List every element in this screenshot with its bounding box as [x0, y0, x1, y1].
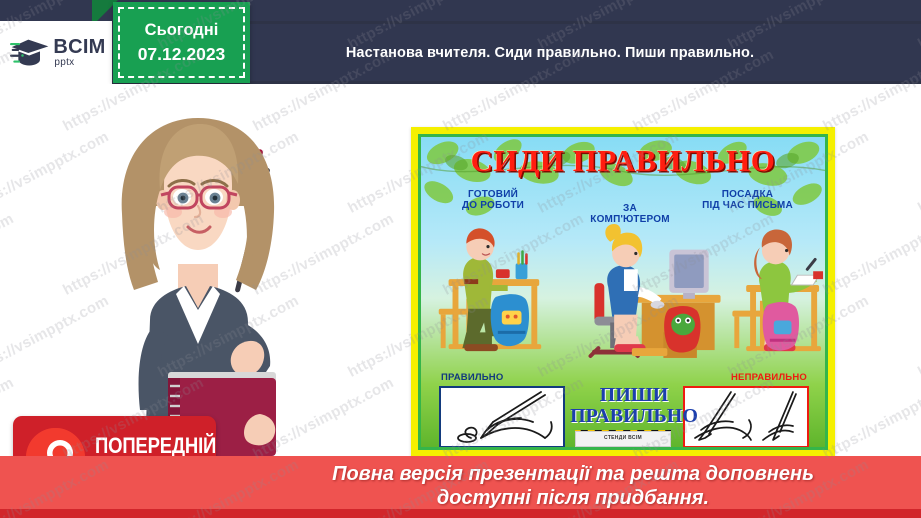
seating-posture-figures	[421, 213, 825, 363]
purchase-notice-line2: доступні після придбання.	[243, 487, 903, 511]
correct-grip-illustration	[439, 386, 565, 448]
purchase-notice-line1: Повна версія презентації та решта доповн…	[243, 463, 903, 487]
brand-logo[interactable]: BCIM pptx	[0, 21, 112, 84]
poster-title: СИДИ ПРАВИЛЬНО	[421, 143, 825, 179]
slide-preview-screen: Настанова вчителя. Сиди правильно. Пиши …	[0, 0, 921, 518]
label-incorrect: НЕПРАВИЛЬНО	[731, 372, 807, 383]
incorrect-grip-illustration	[683, 386, 809, 448]
write-title-line2: ПРАВИЛЬНО	[569, 406, 699, 427]
graduation-cap-icon	[10, 37, 50, 69]
logo-subtitle: pptx	[54, 58, 105, 68]
caption-writing-line2: ПІД ЧАС ПИСЬМА	[680, 200, 815, 211]
classroom-poster: СИДИ ПРАВИЛЬНО ГОТОВИЙ ДО РОБОТИ ЗА КОМП…	[411, 127, 835, 457]
write-title-line1: ПИШИ	[569, 385, 699, 406]
caption-ready-line2: ДО РОБОТИ	[433, 200, 553, 211]
teacher-illustration	[64, 94, 334, 459]
purchase-notice-band: Повна версія презентації та решта доповн…	[0, 456, 921, 518]
caption-ready-line1: ГОТОВИЙ	[433, 189, 553, 200]
logo-name: BCIM	[53, 37, 105, 57]
slide-title: Настанова вчителя. Сиди правильно. Пиши …	[250, 24, 850, 81]
date-badge-value: 07.12.2023	[138, 44, 226, 65]
poster-brand-plate: СТЕНДИ ВСІМ	[575, 431, 671, 447]
write-correctly-title: ПИШИ ПРАВИЛЬНО	[569, 385, 699, 427]
preview-label-line1: ПОПЕРЕДНІЙ	[95, 435, 216, 457]
date-badge: Сьогодні 07.12.2023	[113, 2, 250, 83]
caption-ready-to-work: ГОТОВИЙ ДО РОБОТИ	[433, 189, 553, 211]
caption-writing-line1: ПОСАДКА	[680, 189, 815, 200]
date-badge-label: Сьогодні	[145, 21, 219, 40]
label-correct: ПРАВИЛЬНО	[441, 372, 503, 383]
caption-while-writing: ПОСАДКА ПІД ЧАС ПИСЬМА	[680, 189, 815, 211]
purchase-notice-text: Повна версія презентації та решта доповн…	[243, 463, 903, 510]
